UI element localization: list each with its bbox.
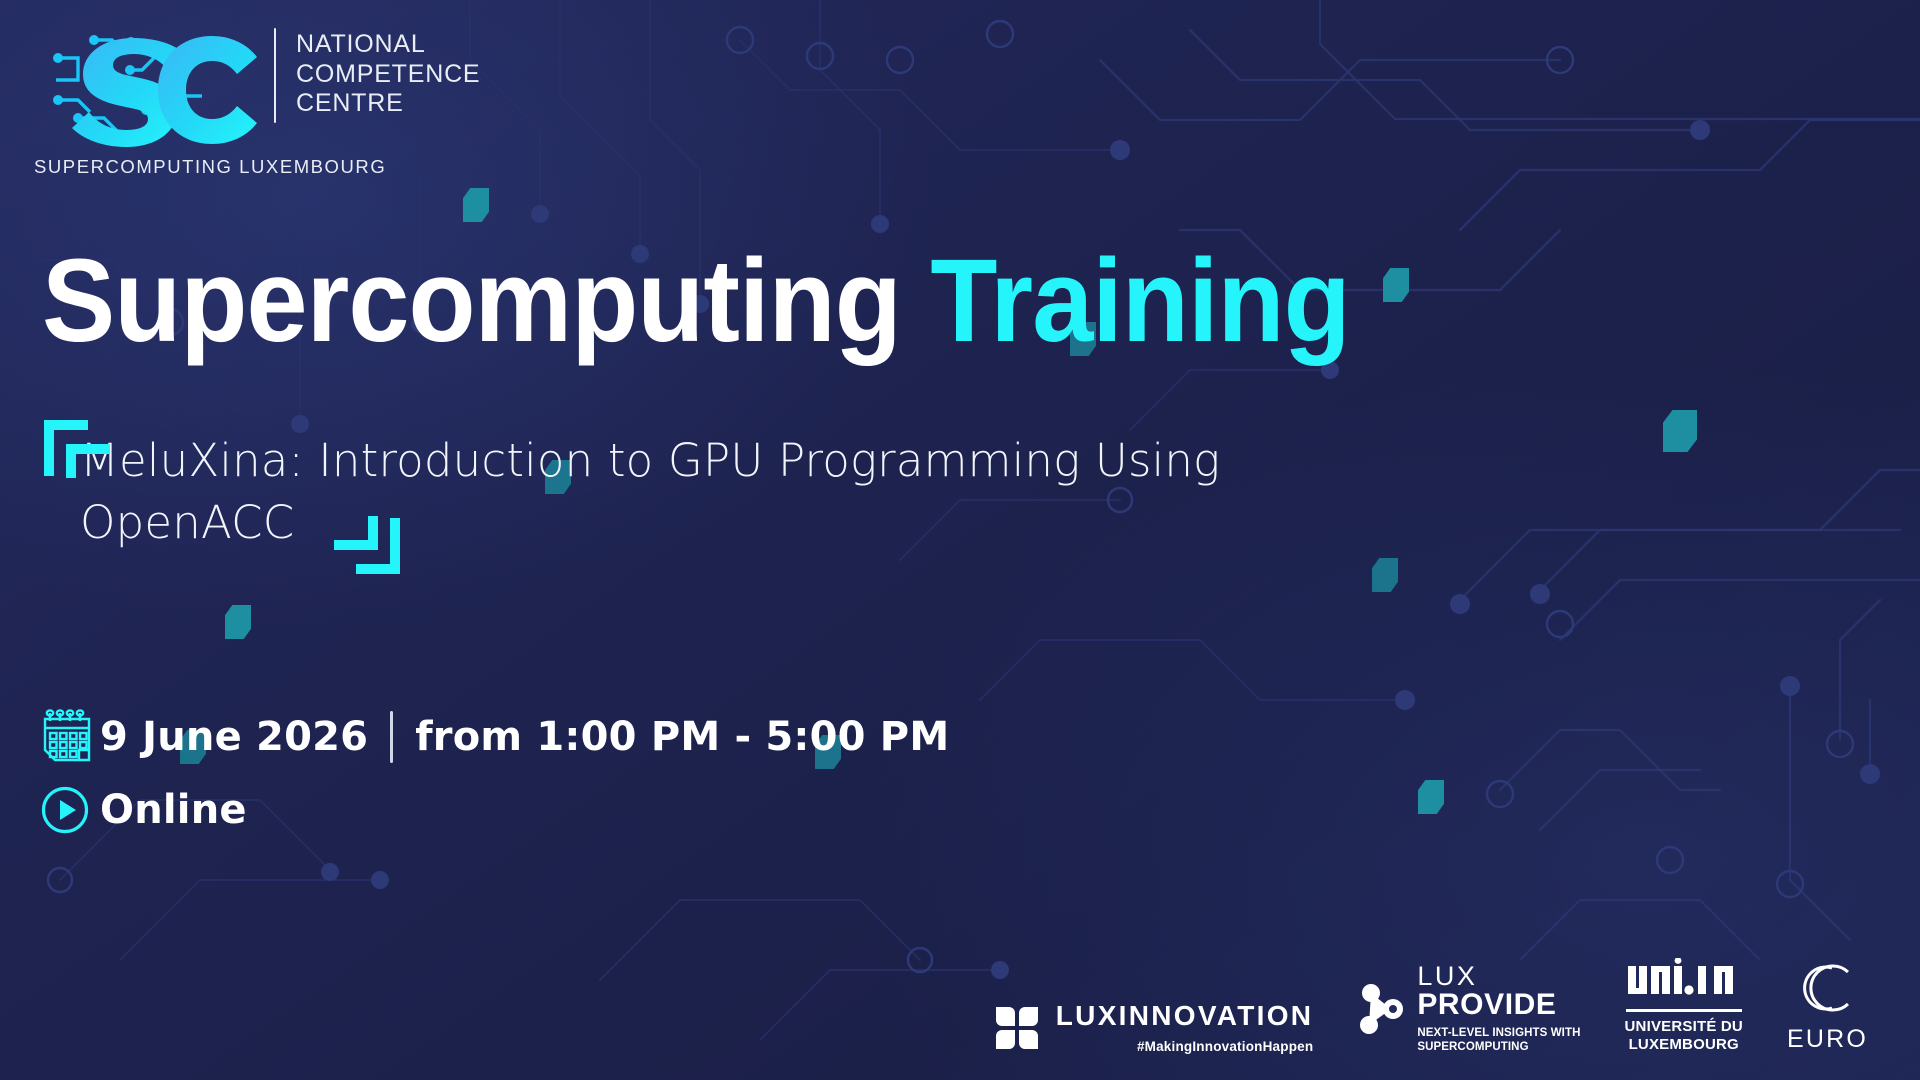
date-row: 9 June 2026 from 1:00 PM - 5:00 PM: [40, 706, 949, 768]
uni-lu-name-line1: UNIVERSITÉ DU: [1625, 1018, 1743, 1036]
luxprovide-tagline-line2: SUPERCOMPUTING: [1417, 1040, 1580, 1054]
logo-wordmark: NATIONAL COMPETENCE CENTRE: [296, 22, 480, 119]
hex-accent: [1383, 268, 1409, 302]
event-time: from 1:00 PM - 5:00 PM: [415, 714, 949, 760]
date-time-text: 9 June 2026 from 1:00 PM - 5:00 PM: [100, 711, 949, 763]
eurocc-double-c-icon: [1796, 959, 1858, 1017]
event-date: 9 June 2026: [100, 714, 368, 760]
logo-divider: [274, 28, 276, 123]
luxprovide-tagline: NEXT-LEVEL INSIGHTS WITH SUPERCOMPUTING: [1417, 1026, 1580, 1055]
hex-accent: [225, 605, 251, 639]
subtitle-block: MeluXina: Introduction to GPU Programmin…: [44, 430, 1304, 554]
uni-lu-name-line2: LUXEMBOURG: [1625, 1036, 1743, 1054]
uni-lu-rule: [1626, 1009, 1742, 1012]
logo-line-2: COMPETENCE: [296, 60, 480, 90]
sponsor-uni-lu: UNIVERSITÉ DU LUXEMBOURG: [1625, 958, 1743, 1054]
luxinnovation-tagline: #MakingInnovationHappen: [1137, 1039, 1313, 1054]
hex-accent: [1418, 780, 1444, 814]
sponsor-luxinnovation: LUXINNOVATION #MakingInnovationHappen: [994, 1002, 1314, 1054]
event-meta: 9 June 2026 from 1:00 PM - 5:00 PM Onlin…: [40, 706, 949, 841]
play-circle-icon: [40, 785, 94, 835]
logo-line-3: CENTRE: [296, 89, 480, 119]
page-title: Supercomputing Training: [42, 242, 1350, 360]
title-accent-part: Training: [930, 235, 1349, 367]
uni-lu-wordmark-icon: [1626, 958, 1742, 1002]
luxinnovation-name: LUXINNOVATION: [1056, 1002, 1314, 1030]
luxinnovation-petal-icon: [994, 1005, 1040, 1051]
luxprovide-name-top: LUX: [1417, 964, 1580, 990]
logo-line-1: NATIONAL: [296, 30, 480, 60]
logo-tagline: SUPERCOMPUTING LUXEMBOURG: [34, 156, 386, 178]
sponsor-luxprovide: LUX PROVIDE NEXT-LEVEL INSIGHTS WITH SUP…: [1357, 964, 1580, 1054]
luxprovide-tagline-line1: NEXT-LEVEL INSIGHTS WITH: [1417, 1026, 1580, 1040]
hex-accent: [1372, 558, 1398, 592]
location-row: Online: [40, 779, 949, 841]
luxprovide-molecule-icon: [1357, 983, 1405, 1035]
luxprovide-name-bottom: PROVIDE: [1417, 990, 1580, 1021]
subtitle-text: MeluXina: Introduction to GPU Programmin…: [44, 430, 1244, 554]
meta-divider: [390, 711, 393, 763]
hex-accent: [463, 188, 489, 222]
sc-circuit-logo-icon: [34, 22, 266, 147]
calendar-icon: [40, 709, 94, 765]
event-location: Online: [100, 787, 247, 833]
title-white-part: Supercomputing: [42, 235, 901, 367]
sponsor-eurocc: EURO: [1787, 959, 1868, 1054]
uni-lu-name: UNIVERSITÉ DU LUXEMBOURG: [1625, 1018, 1743, 1054]
luxinnovation-wordmark: LUXINNOVATION #MakingInnovationHappen: [1056, 1002, 1314, 1054]
hex-accent: [1663, 410, 1697, 452]
eurocc-name: EURO: [1787, 1025, 1868, 1054]
luxprovide-wordmark: LUX PROVIDE NEXT-LEVEL INSIGHTS WITH SUP…: [1417, 964, 1580, 1054]
sponsor-bar: LUXINNOVATION #MakingInnovationHappen LU…: [0, 958, 1920, 1054]
event-banner: NATIONAL COMPETENCE CENTRE SUPERCOMPUTIN…: [0, 0, 1920, 1080]
sc-logo: NATIONAL COMPETENCE CENTRE: [34, 22, 480, 147]
